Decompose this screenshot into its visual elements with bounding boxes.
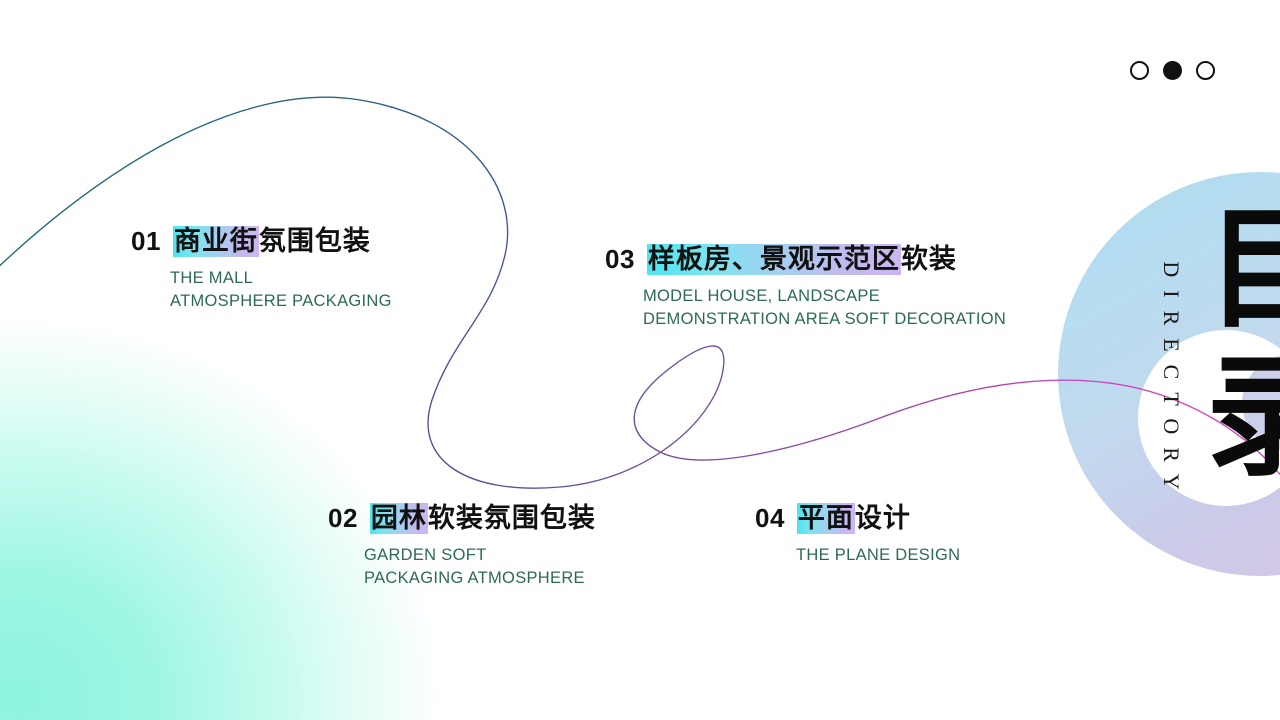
agenda-entry-02-title-rest: 软装氛围包装 xyxy=(428,503,596,534)
directory-cjk-char-1: 目 xyxy=(1206,196,1280,344)
agenda-entry-02-title: 02 园林软装氛围包装 xyxy=(328,496,596,535)
agenda-entry-01-title-rest: 氛围包装 xyxy=(259,226,371,257)
agenda-entry-04-title-cjk: 平面设计 xyxy=(797,496,911,535)
agenda-entry-02-highlight: 园林 xyxy=(370,503,428,534)
agenda-entry-02-number: 02 xyxy=(328,503,358,534)
directory-vertical-text: DIRECTORY xyxy=(1158,261,1184,502)
agenda-entry-03-subtitle: MODEL HOUSE, LANDSCAPE DEMONSTRATION ARE… xyxy=(643,285,1006,330)
slide-pager[interactable] xyxy=(1130,61,1215,80)
agenda-entry-03-number: 03 xyxy=(605,244,635,275)
directory-cjk-char-2: 录 xyxy=(1206,344,1280,492)
agenda-entry-01-highlight: 商业街 xyxy=(173,226,259,257)
agenda-entry-03-title-rest: 软装 xyxy=(901,244,957,275)
agenda-entry-02-subtitle: GARDEN SOFT PACKAGING ATMOSPHERE xyxy=(364,544,596,589)
agenda-entry-04-title-rest: 设计 xyxy=(855,503,911,534)
agenda-entry-01-subtitle: THE MALL ATMOSPHERE PACKAGING xyxy=(170,267,392,312)
agenda-entry-04-number: 04 xyxy=(755,503,785,534)
agenda-entry-03-title: 03 样板房、景观示范区软装 xyxy=(605,237,1006,276)
directory-cjk-wordmark: 目 录 xyxy=(1206,196,1280,492)
agenda-entry-03-title-cjk: 样板房、景观示范区软装 xyxy=(647,237,957,276)
directory-vertical-label: DIRECTORY xyxy=(1153,232,1189,532)
agenda-entry-03[interactable]: 03 样板房、景观示范区软装 MODEL HOUSE, LANDSCAPE DE… xyxy=(605,237,1006,330)
agenda-entry-04-highlight: 平面 xyxy=(797,503,855,534)
agenda-entry-01[interactable]: 01 商业街氛围包装 THE MALL ATMOSPHERE PACKAGING xyxy=(131,219,392,312)
agenda-entry-01-title-cjk: 商业街氛围包装 xyxy=(173,219,371,258)
pager-dot-3[interactable] xyxy=(1196,61,1215,80)
slide-canvas: 01 商业街氛围包装 THE MALL ATMOSPHERE PACKAGING… xyxy=(0,0,1280,720)
agenda-entry-03-highlight: 样板房、景观示范区 xyxy=(647,244,901,275)
agenda-entry-02[interactable]: 02 园林软装氛围包装 GARDEN SOFT PACKAGING ATMOSP… xyxy=(328,496,596,589)
mint-radial-glow xyxy=(0,250,460,720)
agenda-entry-01-number: 01 xyxy=(131,226,161,257)
agenda-entry-04-title: 04 平面设计 xyxy=(755,496,960,535)
agenda-entry-04[interactable]: 04 平面设计 THE PLANE DESIGN xyxy=(755,496,960,567)
agenda-entry-01-title: 01 商业街氛围包装 xyxy=(131,219,392,258)
agenda-entry-04-subtitle: THE PLANE DESIGN xyxy=(796,544,960,567)
agenda-entry-02-title-cjk: 园林软装氛围包装 xyxy=(370,496,596,535)
pager-dot-1[interactable] xyxy=(1130,61,1149,80)
pager-dot-2-active[interactable] xyxy=(1163,61,1182,80)
